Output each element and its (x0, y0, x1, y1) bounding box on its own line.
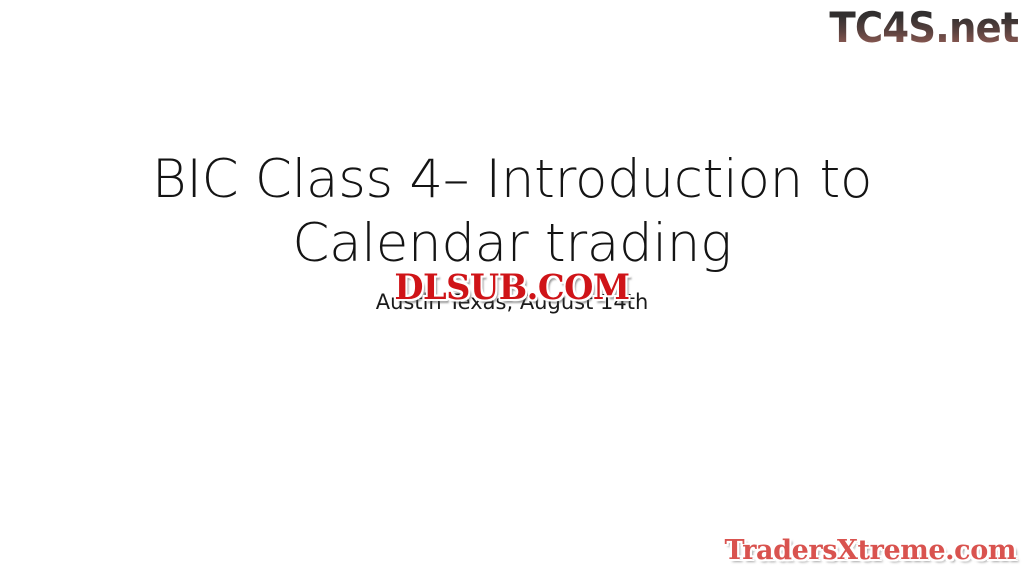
watermark-tradersxtreme-com: TradersXtreme.com (724, 534, 1016, 568)
page-title-line-1: BIC Class 4– Introduction to (0, 148, 1024, 212)
presentation-slide: TC4S.net BIC Class 4– Introduction to Ca… (0, 0, 1024, 576)
watermark-dlsub-com: DLSUB.COM (394, 268, 629, 308)
watermark-tc4s-net: TC4S.net (829, 2, 1018, 54)
page-title: BIC Class 4– Introduction to Calendar tr… (0, 148, 1024, 276)
